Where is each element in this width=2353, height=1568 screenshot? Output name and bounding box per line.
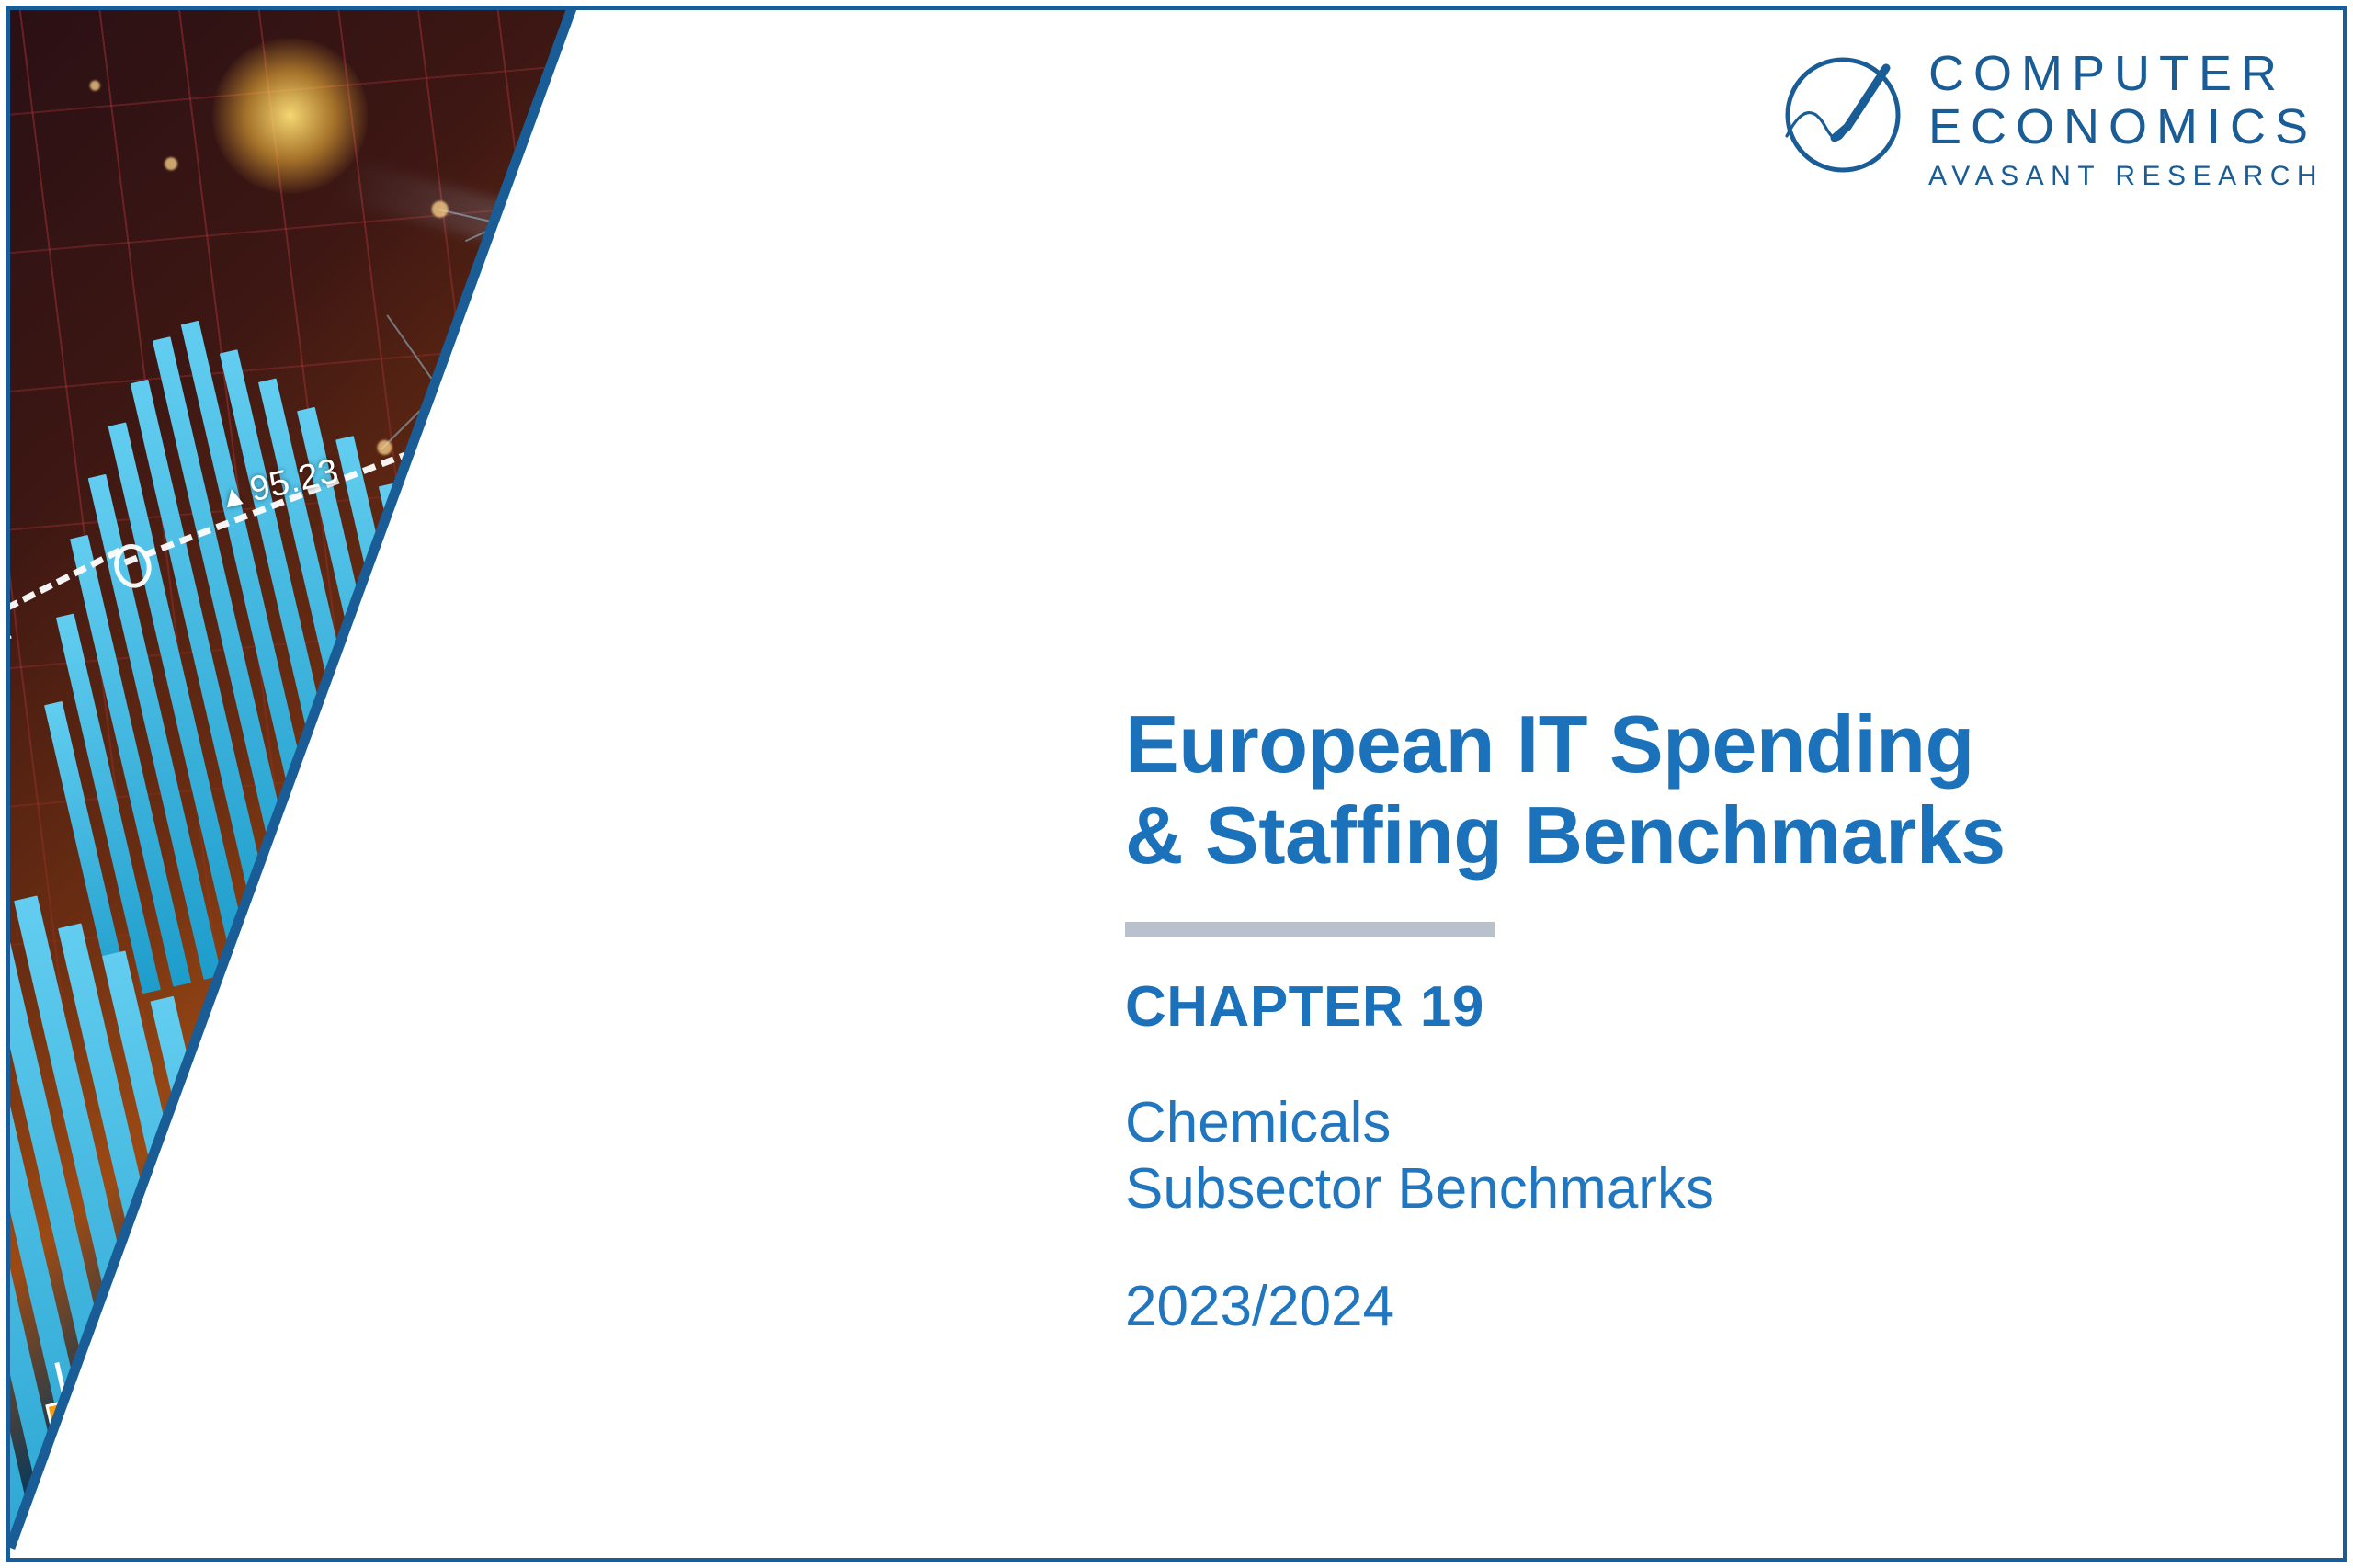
subtitle-line-1: Chemicals (1125, 1090, 2265, 1156)
chart-bar (379, 483, 495, 916)
chart-bar (419, 520, 526, 909)
chart-bar (469, 903, 641, 1553)
chart-bar (633, 800, 820, 1513)
cover-page: ▲146.12 ▲95.23 ▲215.25 ▲15.41 COMPUTER E… (0, 0, 2353, 1568)
page-title-line-1: European IT Spending (1125, 699, 2265, 790)
brand-logo: COMPUTER ECONOMICS AVASANT RESEARCH (1781, 48, 2324, 204)
brand-wordmark: COMPUTER ECONOMICS AVASANT RESEARCH (1928, 48, 2324, 193)
chart-bar (501, 596, 587, 895)
logo-line-economics: ECONOMICS (1928, 101, 2324, 154)
ticker-label-3: ▲215.25 (488, 506, 629, 574)
chart-bar (624, 294, 770, 854)
chart-candlestick (343, 929, 432, 1153)
chart-candlestick (233, 1020, 334, 1298)
chart-bar (782, 954, 927, 1488)
chart-bar (517, 789, 712, 1538)
chart-bar (102, 950, 282, 1561)
chart-candlestick (37, 1358, 116, 1538)
chart-bar (246, 1087, 390, 1561)
chart-bar (426, 1046, 569, 1561)
chart-bar (341, 1169, 461, 1561)
chart-bar (385, 1197, 497, 1561)
circle-chart-checkmark-icon (1781, 53, 1904, 176)
edition-year-block: 2023/2024 (1125, 1274, 2265, 1340)
logo-line-computer: COMPUTER (1928, 48, 2324, 101)
chart-candlestick (142, 1202, 225, 1400)
edition-year: 2023/2024 (1125, 1274, 2265, 1340)
cover-text-block: European IT Spending & Staffing Benchmar… (1125, 699, 2265, 1340)
chapter-label: CHAPTER 19 (1125, 976, 2265, 1039)
chart-bar (58, 923, 246, 1561)
subtitle-block: Chemicals Subsector Benchmarks (1125, 1090, 2265, 1222)
data-panel-a (445, 544, 961, 1053)
subtitle-line-2: Subsector Benchmarks (1125, 1156, 2265, 1222)
chart-bar (406, 1126, 533, 1561)
title-divider (1125, 922, 1495, 937)
chart-bar (587, 415, 709, 868)
light-flare-mid (774, 463, 939, 629)
triangle-up-icon: ▲ (619, 645, 650, 679)
triangle-up-icon: ▲ (490, 537, 523, 573)
chart-bar (448, 975, 606, 1561)
chart-bar (295, 1132, 426, 1561)
data-panel-c (410, 949, 998, 1440)
page-title-line-2: & Staffing Benchmarks (1125, 790, 2265, 881)
chart-bar (545, 744, 748, 1529)
chart-bar (538, 616, 618, 889)
chart-bar (681, 846, 856, 1505)
chart-bar (151, 996, 319, 1561)
chart-bar (732, 900, 892, 1496)
logo-line-avasant-research: AVASANT RESEARCH (1928, 160, 2324, 193)
triangle-up-icon: ▲ (216, 477, 251, 515)
chart-bar (555, 555, 647, 881)
chart-bar (574, 494, 678, 875)
chart-bar (460, 558, 557, 903)
chart-bar (492, 842, 676, 1546)
chart-bar (587, 763, 784, 1520)
ticker-label-4: ▲15.41 (618, 622, 733, 682)
chart-candlestick (625, 1006, 706, 1194)
chart-bar (335, 436, 465, 924)
chart-bar (199, 1041, 354, 1561)
chart-bar (606, 355, 739, 860)
chart-candlestick (474, 842, 572, 1102)
